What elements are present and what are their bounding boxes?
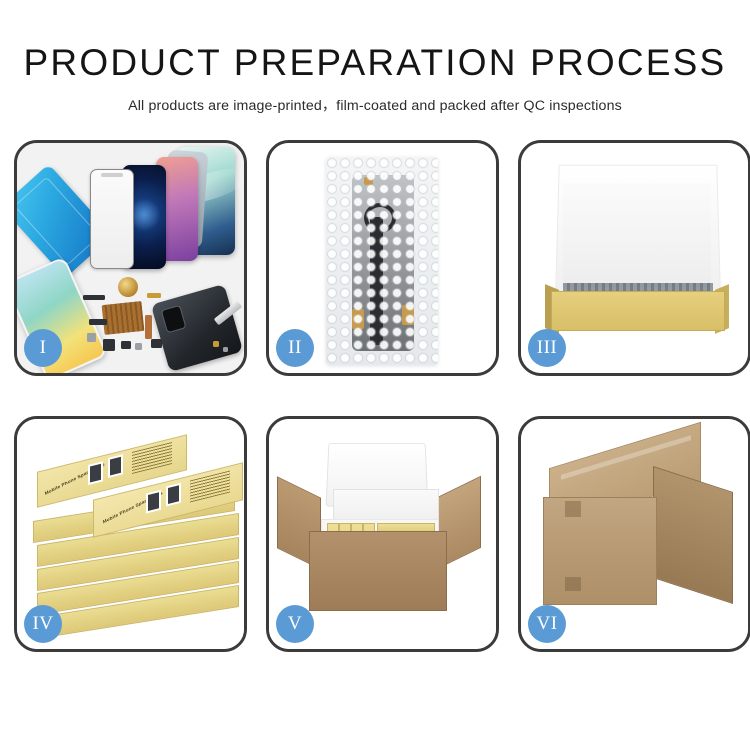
page-title: PRODUCT PREPARATION PROCESS <box>0 44 750 81</box>
step-card-1: I <box>14 140 247 376</box>
page-subtitle: All products are image-printed，film-coat… <box>0 95 750 115</box>
bubble-texture <box>326 157 438 365</box>
step-number-badge-5: V <box>276 605 314 643</box>
part-screw <box>213 341 219 347</box>
box-art-thumb <box>166 483 181 507</box>
header: PRODUCT PREPARATION PROCESS All products… <box>0 0 750 115</box>
part-chip <box>151 339 162 348</box>
box-art-thumb <box>146 490 161 514</box>
carton-front-face <box>543 497 657 605</box>
yellow-box-front <box>551 291 725 331</box>
part-chip <box>103 339 115 351</box>
carton-tape <box>565 501 581 517</box>
step-number-badge-3: III <box>528 329 566 367</box>
step-card-4: Mobile Phone Spare Parts Mobile Phone Sp… <box>14 416 247 652</box>
logic-board <box>102 301 145 335</box>
screen-protector <box>90 169 134 269</box>
carton-side-face <box>653 466 733 604</box>
foam-sheet <box>563 183 711 287</box>
part-chip <box>83 295 105 300</box>
step-card-5: V <box>266 416 499 652</box>
part-chip <box>135 343 142 350</box>
box-text-block <box>132 442 172 474</box>
process-steps-grid: I II <box>14 140 736 688</box>
box-art-thumb <box>88 461 103 485</box>
step-card-3: III <box>518 140 750 376</box>
bubble-bag <box>326 157 438 365</box>
phone-back-housing <box>151 284 243 372</box>
product-preparation-infographic: PRODUCT PREPARATION PROCESS All products… <box>0 0 750 750</box>
step-number-badge-2: II <box>276 329 314 367</box>
step-number-badge-4: IV <box>24 605 62 643</box>
box-stack: Mobile Phone Spare Parts Mobile Phone Sp… <box>23 441 235 633</box>
part-chip <box>121 341 131 349</box>
step-number-badge-1: I <box>24 329 62 367</box>
part-screw <box>223 347 228 352</box>
part-chip <box>87 333 96 342</box>
step-number-badge-6: VI <box>528 605 566 643</box>
step-card-6: VI <box>518 416 750 652</box>
carton-body <box>309 531 447 611</box>
part-chip <box>147 293 161 298</box>
part-chip <box>89 319 107 325</box>
step-card-2: II <box>266 140 499 376</box>
box-text-block <box>190 471 230 503</box>
speaker-part <box>118 277 138 297</box>
box-art-thumb <box>108 454 123 478</box>
carton-tape <box>565 577 581 591</box>
part-flex <box>145 315 152 339</box>
